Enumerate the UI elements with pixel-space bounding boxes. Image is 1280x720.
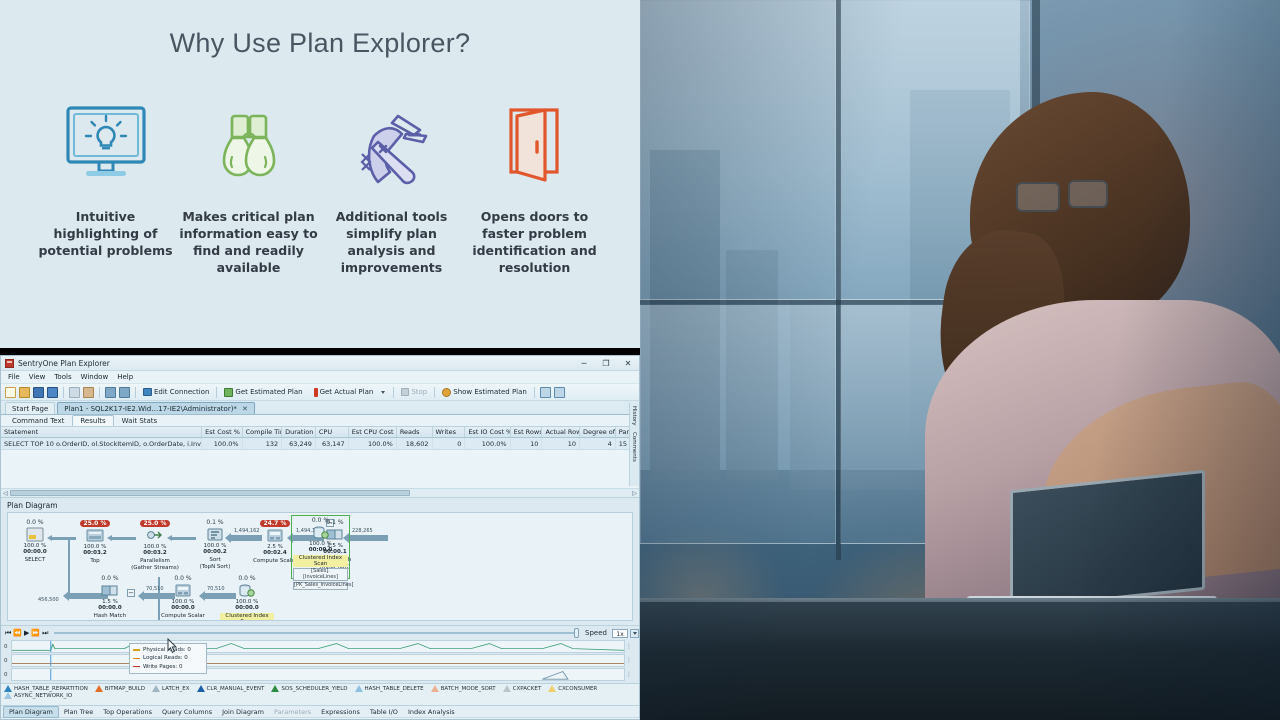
plan-diagram-label: Plan Diagram: [1, 498, 639, 512]
tab-label: Results: [80, 417, 105, 425]
node-cost-percent: 0.0 %: [8, 519, 62, 526]
menu-help[interactable]: Help: [117, 373, 133, 381]
legend-label: HASH_TABLE_DELETE: [365, 686, 424, 692]
node-time: 00:00.0: [171, 605, 194, 611]
legend-item[interactable]: BITMAP_BUILD: [95, 685, 145, 692]
node-name: Hash Match: [83, 613, 137, 619]
feature-caption: Intuitive highlighting of potential prob…: [34, 209, 177, 260]
chart-row-menu-icon[interactable]: ⋮: [626, 643, 632, 650]
tooltip-row: Logical Reads: 0: [133, 654, 203, 662]
side-panel-tabs: History Comments: [629, 403, 639, 486]
get-actual-plan-button[interactable]: Get Actual Plan: [312, 388, 376, 397]
legend-label: HASH_TABLE_REPARTITION: [14, 686, 88, 692]
legend-item[interactable]: LATCH_EX: [152, 685, 190, 692]
legend-item[interactable]: HASH_TABLE_DELETE: [355, 685, 424, 692]
binoculars-icon: [177, 97, 320, 193]
node-cost: 2.5 %: [267, 544, 283, 550]
get-estimated-plan-button[interactable]: Get Estimated Plan: [222, 388, 304, 397]
first-icon[interactable]: ⏮: [5, 629, 11, 638]
tab-label: Command Text: [12, 417, 64, 425]
grid-cell-est-io-cost: 100.0%: [465, 438, 510, 449]
grid-cell-compile-time: 132: [243, 438, 283, 449]
node-stats: 100.0 % 00:03.2: [128, 544, 182, 557]
grid-empty-body: [1, 450, 639, 488]
feature-caption: Additional tools simplify plan analysis …: [320, 209, 463, 277]
plan-explorer-window: SentryOne Plan Explorer ─ ❐ ✕ File View …: [0, 355, 640, 720]
axis-zero-label: 0: [4, 672, 8, 678]
wait-legend-row: HASH_TABLE_REPARTITION BITMAP_BUILD LATC…: [4, 685, 636, 692]
tab-plan-tree[interactable]: Plan Tree: [59, 707, 98, 717]
new-file-icon[interactable]: [5, 387, 16, 398]
node-time: 00:00.2: [203, 549, 226, 555]
close-icon[interactable]: ✕: [242, 405, 248, 413]
node-stats: 100.0 % 00:00.0: [156, 599, 210, 612]
tab-label: Plan1 - SQL2K17-IE2.Wid…17-IE2\Administr…: [64, 405, 237, 413]
play-icon[interactable]: ▶: [24, 629, 29, 637]
tooltip-label: Logical Reads: 0: [143, 654, 188, 662]
plan-view-tab-bar: Plan Diagram Plan Tree Top Operations Qu…: [1, 706, 639, 718]
node-stats: 100.0 % 00:00.0: [8, 543, 62, 556]
node-name: Parallelism: [128, 558, 182, 564]
vertical-tab-history[interactable]: History: [630, 403, 638, 429]
speed-dropdown-button[interactable]: [630, 629, 639, 638]
index-scan-icon: [238, 583, 256, 598]
menu-bar: File View Tools Window Help: [1, 371, 639, 384]
title-bar: SentryOne Plan Explorer ─ ❐ ✕: [1, 356, 639, 371]
grid-column-header[interactable]: Est CPU Cost %: [349, 427, 397, 437]
feature-caption: Opens doors to faster problem identifica…: [463, 209, 606, 277]
grid-column-header[interactable]: Actual Rows: [542, 427, 580, 437]
save-icon[interactable]: [33, 387, 44, 398]
grid-column-header[interactable]: Degree of …: [580, 427, 616, 437]
tab-label: Start Page: [12, 405, 48, 413]
triangle-icon: [355, 685, 363, 692]
triangle-icon: [548, 685, 556, 692]
grid-cell-reads: 18,602: [397, 438, 433, 449]
grid-column-header[interactable]: Statement: [1, 427, 202, 437]
node-cost: 1.5 %: [102, 599, 118, 605]
maximize-button[interactable]: ❐: [595, 356, 617, 371]
monitor-lightbulb-icon: [34, 97, 177, 193]
waits-sparkline: [12, 669, 624, 680]
axis-zero-label: 0: [4, 644, 8, 650]
node-time: 00:03.2: [143, 550, 166, 556]
slide-panel: Why Use Plan Explorer? Intuitive highli: [0, 0, 640, 348]
get-actual-plan-label: Get Actual Plan: [320, 388, 374, 396]
result-tab-bar: Command Text Results Wait Stats: [1, 415, 639, 427]
legend-item[interactable]: CLR_MANUAL_EVENT: [197, 685, 265, 692]
node-name: Clustered Index Scan: [293, 555, 348, 568]
node-stats: 100.0 % 00:00.2: [188, 543, 242, 556]
node-cost: 100.0 %: [204, 543, 227, 549]
actual-plan-icon: [314, 388, 318, 397]
feature-item-opens-doors: Opens doors to faster problem identifica…: [463, 97, 606, 277]
node-time: 00:00.0: [309, 547, 332, 553]
sort-icon: [206, 527, 224, 542]
legend-item[interactable]: HASH_TABLE_REPARTITION: [4, 685, 88, 692]
compute-scalar-icon: [266, 528, 284, 543]
node-subname: (Gather Streams): [128, 565, 182, 571]
node-stats: 100.0 % 00:00.0: [220, 599, 274, 612]
tab-results[interactable]: Results: [72, 415, 113, 426]
tab-index-analysis[interactable]: Index Analysis: [403, 707, 460, 717]
chart-row-menu-icon[interactable]: ⋮: [626, 657, 632, 664]
legend-item[interactable]: SOS_SCHEDULER_YIELD: [271, 685, 347, 692]
series-swatch: [133, 649, 140, 651]
tooltip-row: Write Pages: 0: [133, 663, 203, 671]
legend-item[interactable]: CXCONSUMER: [548, 685, 597, 692]
node-name-wrap: Clustered Index Scan: [220, 612, 274, 621]
scrollbar-thumb[interactable]: [10, 490, 410, 496]
tab-table-io[interactable]: Table I/O: [365, 707, 403, 717]
open-folder-icon[interactable]: [19, 387, 30, 398]
grid-horizontal-scrollbar[interactable]: ◁ ▷: [1, 488, 639, 497]
grid-cell-cpu: 63,147: [316, 438, 349, 449]
plan-node-parallelism[interactable]: 25.0 % 100.0 % 00:03.2 Parallelism (Gath…: [128, 519, 182, 571]
tab-wait-stats[interactable]: Wait Stats: [114, 415, 166, 426]
app-logo-icon: [5, 359, 14, 368]
menu-file[interactable]: File: [8, 373, 20, 381]
node-name: Compute Scalar: [156, 613, 210, 619]
legend-item[interactable]: BATCH_MODE_SORT: [431, 685, 496, 692]
menu-tools[interactable]: Tools: [54, 373, 71, 381]
grid-cell-est-cost: 100.0%: [202, 438, 242, 449]
triangle-icon: [197, 685, 205, 692]
toolbar-separator: [99, 387, 100, 398]
stop-label: Stop: [411, 388, 427, 396]
copy-icon[interactable]: [69, 387, 80, 398]
tab-plan-diagram[interactable]: Plan Diagram: [3, 706, 59, 718]
wait-stats-legend: HASH_TABLE_REPARTITION BITMAP_BUILD LATC…: [1, 684, 639, 706]
feature-item-intuitive-highlighting: Intuitive highlighting of potential prob…: [34, 97, 177, 277]
menu-window[interactable]: Window: [81, 373, 109, 381]
axis-zero-label: 0: [4, 658, 8, 664]
layout-horizontal-icon[interactable]: [540, 387, 551, 398]
toolbar-separator: [63, 387, 64, 398]
redo-icon[interactable]: [119, 387, 130, 398]
node-object-index: [PK_Sales_InvoiceLines]: [293, 582, 348, 590]
plan-diagram-panel: Plan Diagram 1,494,162 1,494,162 228,265…: [1, 498, 639, 626]
stop-icon: [401, 388, 409, 396]
grid-cell-est-cpu-cost: 100.0%: [349, 438, 397, 449]
node-time: 00:00.0: [98, 605, 121, 611]
node-subname: (Inner Join): [83, 620, 137, 621]
timeline-panel: ⏮ ⏪ ▶ ⏩ ⏭ Speed 1x 0 ⋮ 0: [1, 626, 639, 684]
minimize-button[interactable]: ─: [573, 356, 595, 371]
plan-diagram-canvas[interactable]: 1,494,162 1,494,162 228,265 − − 0.0 % 10…: [7, 512, 633, 621]
show-estimated-plan-label: Show Estimated Plan: [453, 388, 527, 396]
toolbar-separator: [135, 387, 136, 398]
triangle-icon: [431, 685, 439, 692]
chart-row-reads[interactable]: 0 ⋮: [11, 654, 625, 667]
triangle-icon: [4, 692, 12, 699]
node-name: Clustered Index Scan: [220, 613, 274, 621]
node-cost-percent: 0.0 %: [293, 517, 348, 524]
plan-edge-vertical: [68, 539, 70, 595]
legend-label: ASYNC_NETWORK_IO: [14, 693, 72, 699]
node-cost-badge: 25.0 %: [128, 519, 182, 527]
tab-query-columns[interactable]: Query Columns: [157, 707, 217, 717]
tool-bar: Edit Connection Get Estimated Plan Get A…: [1, 384, 639, 401]
compute-scalar-icon: [174, 583, 192, 598]
feature-list: Intuitive highlighting of potential prob…: [0, 97, 640, 277]
wait-legend-row: ASYNC_NETWORK_IO: [4, 692, 636, 699]
chart-row-waits[interactable]: 0 ⋮: [11, 668, 625, 681]
node-name: Top: [68, 558, 122, 564]
chart-row-menu-icon[interactable]: ⋮: [626, 671, 632, 678]
grid-cell-duration: 63,249: [282, 438, 316, 449]
rewind-icon[interactable]: ⏪: [13, 629, 22, 637]
node-stats: 100.0 % 00:03.2: [68, 544, 122, 557]
legend-label: SOS_SCHEDULER_YIELD: [281, 686, 347, 692]
scroll-right-icon[interactable]: ▷: [630, 490, 639, 497]
plan-edge-label: 456,500: [38, 597, 59, 603]
node-time: 00:02.4: [263, 550, 286, 556]
plan-node-clustered-index-scan-lower[interactable]: 0.0 % 100.0 % 00:00.0 Clustered Index Sc…: [220, 575, 274, 621]
legend-label: CXPACKET: [513, 686, 542, 692]
node-cost: 100.0 %: [24, 543, 47, 549]
node-cost-percent: 0.0 %: [83, 575, 137, 582]
grid-header-row: Statement Est Cost % Compile Time Durati…: [1, 427, 639, 438]
paste-icon[interactable]: [83, 387, 94, 398]
node-cost: 100.0 %: [236, 599, 259, 605]
node-cost-percent: 0.0 %: [220, 575, 274, 582]
node-cost: 100.0 %: [172, 599, 195, 605]
node-cost-badge: 25.0 %: [68, 519, 122, 527]
tab-plan1[interactable]: Plan1 - SQL2K17-IE2.Wid…17-IE2\Administr…: [57, 402, 255, 414]
node-name-wrap: Clustered Index Scan: [293, 554, 348, 568]
series-swatch: [133, 658, 140, 660]
grid-column-header[interactable]: Duration: [282, 427, 316, 437]
node-subname: (TopN Sort): [188, 564, 242, 570]
series-swatch: [133, 666, 140, 668]
speed-label: Speed: [585, 629, 607, 637]
slide-title: Why Use Plan Explorer?: [0, 28, 640, 59]
tab-expressions[interactable]: Expressions: [316, 707, 365, 717]
toolbar-separator: [534, 387, 535, 398]
hash-match-icon: [101, 583, 119, 598]
plan-node-compute-scalar-lower[interactable]: 0.0 % 100.0 % 00:00.0 Compute Scalar: [156, 575, 210, 619]
grid-cell-statement: SELECT TOP 10 o.OrderID, ol.StockItemID,…: [1, 438, 202, 449]
stop-button[interactable]: Stop: [399, 388, 429, 396]
node-cost-percent: 0.1 %: [188, 519, 242, 526]
open-door-icon: [463, 97, 606, 193]
timeline-slider-thumb[interactable]: [574, 628, 579, 638]
window-title: SentryOne Plan Explorer: [18, 359, 110, 368]
triangle-icon: [152, 685, 160, 692]
estimated-plan-icon: [224, 388, 233, 397]
edit-connection-button[interactable]: Edit Connection: [141, 388, 211, 396]
show-plan-icon: [442, 388, 451, 397]
edit-connection-label: Edit Connection: [154, 388, 209, 396]
show-estimated-plan-button[interactable]: Show Estimated Plan: [440, 388, 529, 397]
photo-vignette: [640, 0, 1280, 720]
toolbar-separator: [434, 387, 435, 398]
grid-cell-est-rows: 10: [511, 438, 543, 449]
grid-column-header[interactable]: Est Rows: [511, 427, 543, 437]
chevron-down-icon: [633, 632, 637, 635]
cpu-sparkline: [12, 641, 624, 652]
toolbar-separator: [216, 387, 217, 398]
chart-row-cpu[interactable]: 0 ⋮: [11, 640, 625, 653]
scroll-left-icon[interactable]: ◁: [1, 490, 10, 497]
index-scan-icon: [312, 525, 330, 540]
document-tab-bar: Start Page Plan1 - SQL2K17-IE2.Wid…17-IE…: [1, 401, 639, 415]
parallelism-icon: [146, 528, 164, 543]
top-icon: [86, 528, 104, 543]
get-estimated-plan-label: Get Estimated Plan: [235, 388, 302, 396]
grid-column-header[interactable]: Est IO Cost %: [465, 427, 510, 437]
node-stats: 100.0 % 00:00.0: [293, 541, 348, 554]
table-row[interactable]: SELECT TOP 10 o.OrderID, ol.StockItemID,…: [1, 438, 639, 450]
node-cost: 100.0 %: [309, 541, 332, 547]
node-cost: 100.0 %: [144, 544, 167, 550]
legend-label: LATCH_EX: [162, 686, 190, 692]
legend-label: BATCH_MODE_SORT: [441, 686, 496, 692]
plan-node-hash-match-lower[interactable]: 0.0 % 1.5 % 00:00.0 Hash Match (Inner Jo…: [83, 575, 137, 621]
node-time: 00:03.2: [83, 550, 106, 556]
select-icon: [26, 527, 44, 542]
node-cost-percent: 0.0 %: [156, 575, 210, 582]
feature-caption: Makes critical plan information easy to …: [177, 209, 320, 277]
grid-cell-writes: 0: [433, 438, 466, 449]
feature-item-additional-tools: Additional tools simplify plan analysis …: [320, 97, 463, 277]
plan-node-sort[interactable]: 0.1 % 100.0 % 00:00.2 Sort (TopN Sort): [188, 519, 242, 570]
triangle-icon: [271, 685, 279, 692]
legend-item[interactable]: CXPACKET: [503, 685, 542, 692]
grid-cell-degree: 4: [580, 438, 616, 449]
chevron-down-icon[interactable]: [381, 391, 385, 394]
reads-sparkline: [12, 655, 624, 666]
statement-grid: Statement Est Cost % Compile Time Durati…: [1, 427, 639, 498]
tab-parameters[interactable]: Parameters: [269, 707, 316, 717]
menu-view[interactable]: View: [29, 373, 46, 381]
grid-column-header[interactable]: Compile Time: [243, 427, 283, 437]
mouse-cursor-icon: [167, 638, 178, 653]
timeline-slider[interactable]: [54, 632, 579, 634]
plan-node-select[interactable]: 0.0 % 100.0 % 00:00.0 SELECT: [8, 519, 62, 563]
node-name: Sort: [188, 557, 242, 563]
legend-label: CLR_MANUAL_EVENT: [207, 686, 265, 692]
node-time: 00:00.0: [23, 549, 46, 555]
node-stats: 1.5 % 00:00.0: [83, 599, 137, 612]
tooltip-label: Write Pages: 0: [143, 663, 183, 671]
legend-item[interactable]: ASYNC_NETWORK_IO: [4, 692, 72, 699]
plan-node-top[interactable]: 25.0 % 100.0 % 00:03.2 Top: [68, 519, 122, 564]
legend-label: BITMAP_BUILD: [105, 686, 145, 692]
node-object-table: [Sales].[InvoiceLines]: [293, 568, 348, 581]
node-cost: 100.0 %: [84, 544, 107, 550]
triangle-icon: [95, 685, 103, 692]
tab-join-diagram[interactable]: Join Diagram: [217, 707, 269, 717]
legend-label: CXCONSUMER: [558, 686, 597, 692]
window-controls: ─ ❐ ✕: [573, 356, 639, 371]
close-button[interactable]: ✕: [617, 356, 639, 371]
grid-column-header[interactable]: Writes: [433, 427, 466, 437]
tab-top-operations[interactable]: Top Operations: [98, 707, 157, 717]
grid-column-header[interactable]: Reads: [397, 427, 433, 437]
last-icon[interactable]: ⏭: [42, 629, 48, 638]
toolbar-separator: [393, 387, 394, 398]
tab-start-page[interactable]: Start Page: [5, 402, 55, 414]
grid-column-header[interactable]: Est Cost %: [202, 427, 242, 437]
save-all-icon[interactable]: [47, 387, 58, 398]
tab-command-text[interactable]: Command Text: [4, 415, 72, 426]
tab-label: Wait Stats: [122, 417, 158, 425]
speed-input[interactable]: 1x: [612, 629, 628, 638]
connection-icon: [143, 388, 152, 396]
feature-item-critical-plan-info: Makes critical plan information easy to …: [177, 97, 320, 277]
triangle-icon: [503, 685, 511, 692]
layout-vertical-icon[interactable]: [554, 387, 565, 398]
vertical-tab-comments[interactable]: Comments: [630, 429, 638, 465]
triangle-icon: [4, 685, 12, 692]
grid-cell-actual-rows: 10: [542, 438, 580, 449]
node-time: 00:00.0: [235, 605, 258, 611]
swiss-army-knife-icon: [320, 97, 463, 193]
fastforward-icon[interactable]: ⏩: [31, 629, 40, 637]
playback-controls: ⏮ ⏪ ▶ ⏩ ⏭ Speed 1x: [1, 626, 639, 639]
node-name: SELECT: [8, 557, 62, 563]
stock-photo-woman-at-window: [640, 0, 1280, 720]
grid-column-header[interactable]: CPU: [316, 427, 349, 437]
plan-node-clustered-index-scan[interactable]: 0.0 % 100.0 % 00:00.0 Clustered Index Sc…: [293, 517, 348, 590]
undo-icon[interactable]: [105, 387, 116, 398]
